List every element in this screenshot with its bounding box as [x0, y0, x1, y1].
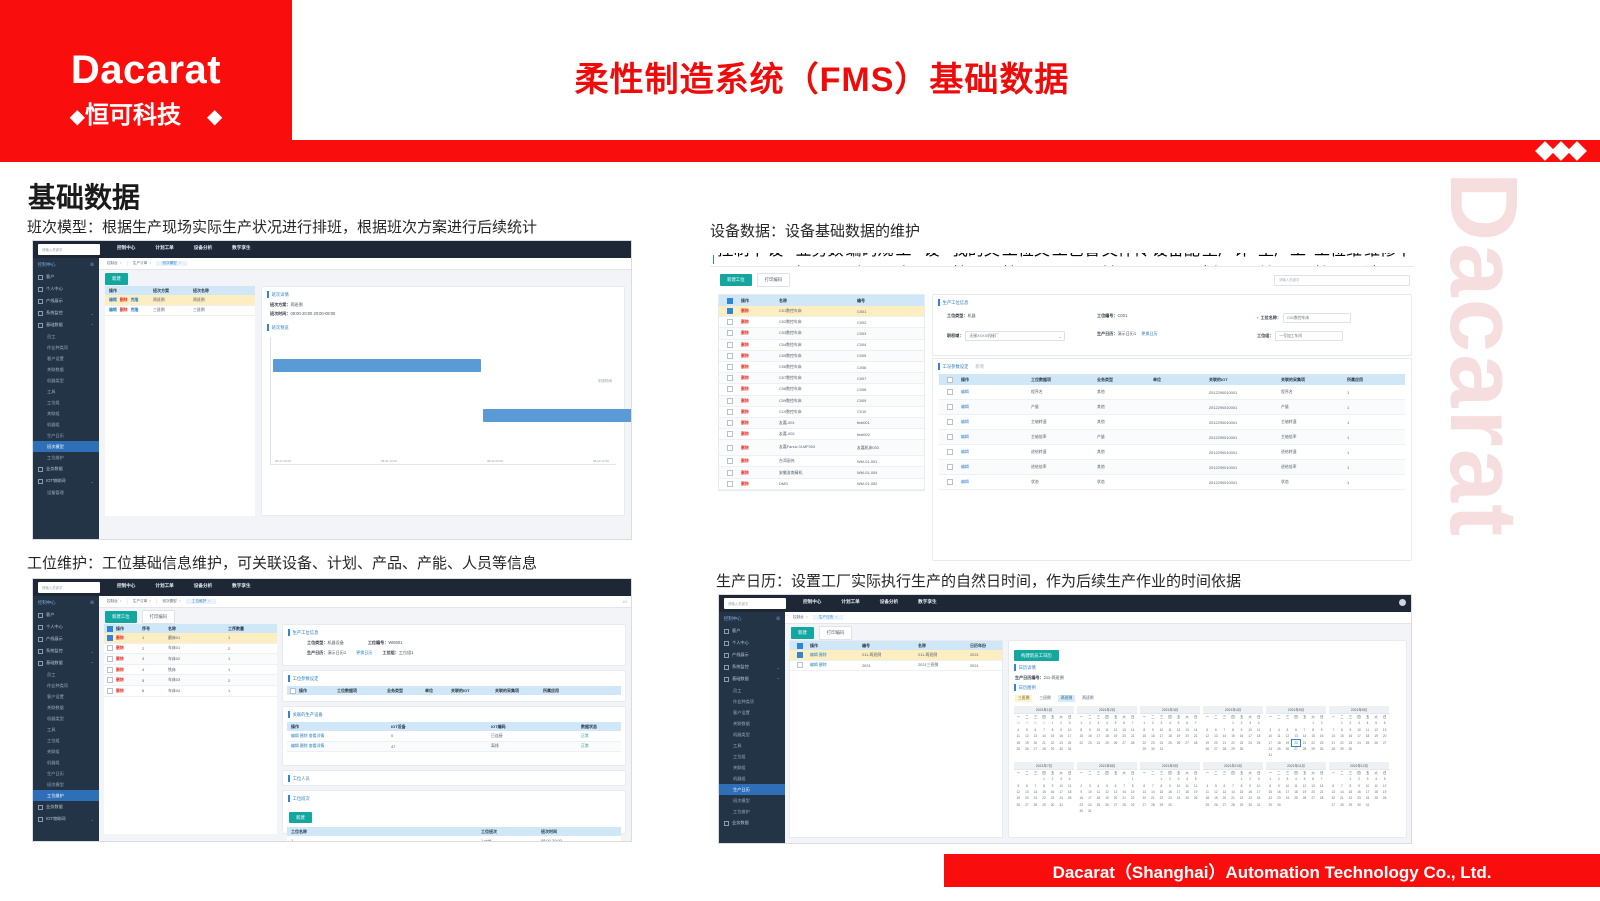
- close-icon[interactable]: ×: [120, 261, 122, 265]
- sidebar-item-shift-model[interactable]: 班次模型: [33, 779, 99, 790]
- sidebar-item-relation-group[interactable]: 关联组: [33, 408, 99, 419]
- topnav-item-1[interactable]: 计划工单: [841, 599, 859, 605]
- topnav-items[interactable]: 控制中心 计划工单 设备分析 数字孪生: [803, 599, 937, 605]
- calendar-day-cell[interactable]: [1380, 802, 1389, 808]
- select-all-checkbox[interactable]: [947, 377, 953, 383]
- delete-link[interactable]: 删除: [741, 375, 779, 381]
- table-row[interactable]: 编辑 产量 其他 2012290010001 产量 1: [939, 400, 1405, 415]
- screenshot-station-maintain[interactable]: 请输入关键字 控制中心 计划工单 设备分析 数字孪生 控制中心☰ 客户 个人中心…: [32, 578, 632, 842]
- calendar-day-cell[interactable]: [1183, 802, 1192, 808]
- row-checkbox[interactable]: [727, 364, 733, 370]
- calendar-day-cell[interactable]: 29: [1140, 746, 1149, 752]
- delete-link[interactable]: 删除: [116, 656, 142, 662]
- close-icon[interactable]: ×: [179, 261, 181, 265]
- sidebar-item-line-display[interactable]: 产线展示: [719, 649, 785, 661]
- sidebar-item-production-calendar[interactable]: 生产日历: [33, 768, 99, 779]
- calendar-day-cell[interactable]: [1191, 802, 1200, 808]
- calendar-day-cell[interactable]: 23: [1086, 740, 1095, 746]
- row-actions[interactable]: 编辑 删除 查看详情: [287, 743, 391, 749]
- calendar-day-cell[interactable]: 22: [1077, 740, 1086, 746]
- delete-link[interactable]: 删除: [120, 307, 128, 313]
- delete-link[interactable]: 删除: [741, 445, 779, 451]
- table-row[interactable]: 编辑 删除 211-两班倒 211-两班倒 2021: [790, 650, 1002, 661]
- topnav-item-2[interactable]: 设备分析: [880, 599, 898, 605]
- calendar-day-cell[interactable]: [1065, 802, 1074, 808]
- print-code-button[interactable]: 打印编码: [142, 610, 176, 624]
- row-checkbox[interactable]: [107, 656, 113, 662]
- new-shift-button[interactable]: 新建: [289, 812, 312, 823]
- calendar-list-table[interactable]: 操作 编号 名称 日历年份 编辑 删除 211-两班倒 211-两班倒 2021…: [789, 640, 1003, 838]
- calendar-day-cell[interactable]: [1094, 808, 1103, 814]
- sidebar-item-device-manage[interactable]: 设备管理: [33, 487, 99, 498]
- close-icon[interactable]: ×: [806, 615, 808, 619]
- calendar-day-cell[interactable]: 30: [1149, 746, 1158, 752]
- screenshot-shift-model[interactable]: 请输入关键字 控制中心 计划工单 设备分析 数字孪生 控制中心☰ 客户 个人中心…: [32, 240, 632, 540]
- sidebar-item-iot[interactable]: IOT物联网⌄: [33, 475, 99, 487]
- tab-device-config[interactable]: 设备配置×: [1152, 253, 1202, 267]
- shift-table[interactable]: 操作 班次方案 班次名称 编辑 删除 克隆 两班倒 两班倒 编辑: [105, 286, 255, 516]
- edit-link[interactable]: 编辑: [961, 389, 1031, 395]
- close-icon[interactable]: ×: [912, 266, 921, 268]
- table-row[interactable]: 删除 DMG WM-01-052: [719, 479, 924, 490]
- delete-link[interactable]: 删除: [741, 481, 779, 487]
- sidebar-item-tool[interactable]: 工具: [33, 724, 99, 735]
- calendar-day-cell[interactable]: [1246, 746, 1255, 752]
- sidebar-item-station-maintain[interactable]: 工位维护: [719, 806, 785, 817]
- table-row[interactable]: 编辑 主轴倍率 产量 2012290010001 主轴倍率 1: [939, 430, 1405, 445]
- table-row[interactable]: 删除 友嘉-001 test001: [719, 418, 924, 429]
- edit-link[interactable]: 编辑: [961, 419, 1031, 425]
- calendar-day-cell[interactable]: 30: [1237, 746, 1246, 752]
- calendar-day-cell[interactable]: [1103, 808, 1112, 814]
- calendar-day-cell[interactable]: 31: [1266, 752, 1275, 758]
- screenshot-device-data[interactable]: 控制中心× 设置× 业务数据× 编码规则× 工序× 设置× 我的文档× 工位文档…: [710, 253, 1414, 563]
- tab-code-rule[interactable]: 编码规则×: [846, 253, 896, 267]
- sidebar-item-basic-data[interactable]: 基础数据⌃: [33, 657, 99, 669]
- sidebar-item-monitor[interactable]: 系统监控⌄: [33, 307, 99, 319]
- row-checkbox[interactable]: [727, 386, 733, 392]
- close-icon[interactable]: ×: [149, 599, 151, 603]
- table-row[interactable]: 删除 C10数控车床 C010: [719, 407, 924, 418]
- delete-link[interactable]: 删除: [741, 398, 779, 404]
- edit-link[interactable]: 编辑: [961, 404, 1031, 410]
- sidebar-item-customer[interactable]: 客户: [33, 271, 99, 283]
- row-checkbox[interactable]: [797, 662, 803, 668]
- calendar-day-cell[interactable]: 30: [1048, 802, 1057, 808]
- tab-file-transfer[interactable]: 文件传输×: [1102, 253, 1152, 267]
- row-checkbox[interactable]: [107, 688, 113, 694]
- sidebar-item-iot[interactable]: IOT物联网⌄: [33, 813, 99, 825]
- sidebar-item-business-data[interactable]: 业务数据: [33, 463, 99, 475]
- topnav-item-1[interactable]: 计划工单: [155, 583, 173, 589]
- calendar-day-cell[interactable]: 24: [1094, 740, 1103, 746]
- row-checkbox[interactable]: [727, 398, 733, 404]
- calendar-day-cell[interactable]: [1111, 808, 1120, 814]
- calendar-day-cell[interactable]: [1183, 746, 1192, 752]
- sidebar-item-line-display[interactable]: 产线展示: [33, 295, 99, 307]
- sidebar-item-customer-setting[interactable]: 客户设置: [33, 691, 99, 702]
- build-new-calendar-button[interactable]: 构建新员工日历: [1014, 650, 1059, 661]
- delete-link[interactable]: 删除: [116, 667, 142, 673]
- print-code-button[interactable]: 打印编码: [819, 626, 853, 640]
- print-code-button[interactable]: 打印编码: [757, 273, 791, 287]
- sidebar-item-work-type[interactable]: 作业种类项: [33, 680, 99, 691]
- row-checkbox[interactable]: [727, 481, 733, 487]
- avatar[interactable]: [1399, 599, 1406, 606]
- sidebar-item-line-display[interactable]: 产线展示: [33, 633, 99, 645]
- close-icon[interactable]: ×: [1168, 266, 1177, 268]
- sidebar-item-monitor[interactable]: 系统监控⌄: [719, 661, 785, 673]
- sidebar-item-station-group[interactable]: 工位组: [33, 735, 99, 746]
- topnav-item-3[interactable]: 数字孪生: [918, 599, 936, 605]
- app-sidebar[interactable]: 控制中心☰ 客户 个人中心 产线展示 系统监控⌄ 基础数据⌃ 员工 作业种类项 …: [33, 258, 99, 539]
- delete-link[interactable]: 删除: [741, 308, 779, 314]
- collapse-icon[interactable]: ☰: [776, 616, 780, 622]
- calendar-day-cell[interactable]: 28: [1329, 746, 1338, 752]
- topnav-items[interactable]: 控制中心 计划工单 设备分析 数字孪生: [117, 245, 251, 251]
- table-row[interactable]: 编辑 主轴转速 其他 2012290010001 主轴转速 1: [939, 415, 1405, 430]
- topnav-item-1[interactable]: 计划工单: [155, 245, 173, 251]
- tab-setting-2[interactable]: 设置×: [924, 253, 952, 267]
- topnav-item-2[interactable]: 设备分析: [194, 245, 212, 251]
- calendar-day-cell[interactable]: 25: [1103, 740, 1112, 746]
- close-icon[interactable]: ×: [1227, 266, 1236, 268]
- table-row[interactable]: 编辑 删除 克隆 两班倒 两班倒: [105, 295, 255, 306]
- row-checkbox[interactable]: [107, 635, 113, 641]
- topnav-items[interactable]: 控制中心 计划工单 设备分析 数字孪生: [117, 583, 251, 589]
- calendar-day-cell[interactable]: 28: [1220, 746, 1229, 752]
- tab-repair-request[interactable]: 维修申请×: [1364, 253, 1414, 267]
- edit-link[interactable]: 编辑: [109, 307, 117, 313]
- sidebar-item-basic-data[interactable]: 基础数据⌃: [33, 319, 99, 331]
- calendar-day-cell[interactable]: 31: [1057, 802, 1066, 808]
- sidebar-item-work-type[interactable]: 作业种类项: [33, 342, 99, 353]
- sidebar-item-customer-setting[interactable]: 客户设置: [719, 707, 785, 718]
- table-row[interactable]: 删除 友嘉-002 test002: [719, 429, 924, 440]
- calendar-day-cell[interactable]: 27: [1220, 802, 1229, 808]
- calendar-day-cell[interactable]: 29: [1157, 802, 1166, 808]
- calendar-day-cell[interactable]: 29: [1266, 802, 1275, 808]
- delete-link[interactable]: 删除: [116, 645, 142, 651]
- tab-production-order[interactable]: 生产订单×: [128, 599, 157, 604]
- calendar-day-cell[interactable]: 25: [1203, 802, 1212, 808]
- calendar-day-cell[interactable]: 31: [1086, 808, 1095, 814]
- calendar-day-cell[interactable]: [1355, 746, 1364, 752]
- calendar-day-cell[interactable]: 28: [1338, 802, 1347, 808]
- row-checkbox[interactable]: [727, 319, 733, 325]
- sidebar-item-employee[interactable]: 员工: [33, 669, 99, 680]
- close-icon[interactable]: ×: [1068, 266, 1077, 268]
- table-row[interactable]: 编辑 删除 克隆 三班倒 三班倒: [105, 306, 255, 317]
- calendar-day-cell[interactable]: [1300, 752, 1309, 758]
- calendar-day-cell[interactable]: 29: [1229, 746, 1238, 752]
- tab-console[interactable]: 控制台×: [102, 261, 128, 266]
- row-checkbox[interactable]: [727, 458, 733, 464]
- calendar-day-cell[interactable]: 27: [1031, 746, 1040, 752]
- authority-domain-select[interactable]: 无锡XXXX机械厂⌄: [965, 331, 1065, 341]
- new-station-button[interactable]: 新建工位: [105, 611, 137, 623]
- row-checkbox[interactable]: [727, 470, 733, 476]
- table-row[interactable]: 编辑 程序名 其他 2012290010001 程序名 1: [939, 385, 1405, 400]
- screenshot-production-calendar[interactable]: 请输入关键字 控制中心 计划工单 设备分析 数字孪生 控制中心☰ 客户 个人中心…: [718, 594, 1412, 844]
- table-row[interactable]: 1 1 shift 08:00-20:00: [287, 836, 621, 842]
- row-checkbox[interactable]: [107, 667, 113, 673]
- calendar-day-cell[interactable]: [1174, 802, 1183, 808]
- calendar-day-cell[interactable]: 31: [1363, 802, 1372, 808]
- table-row[interactable]: 删除 5 车床03 2: [104, 675, 277, 686]
- sidebar-item-machine-type[interactable]: 机器类型: [33, 375, 99, 386]
- close-icon[interactable]: ×: [862, 266, 871, 268]
- table-row[interactable]: 删除 6 车床04 1: [104, 686, 277, 697]
- tab-business-data[interactable]: 业务数据×: [796, 253, 846, 267]
- calendar-day-cell[interactable]: 31: [1254, 802, 1263, 808]
- table-row[interactable]: 编辑 状态 状态 2012290010001 状态 1: [939, 475, 1405, 490]
- row-checkbox[interactable]: [727, 330, 733, 336]
- tab-bar[interactable]: 控制台× 生产订单× 班次模型× 工位维护× 1/3: [99, 596, 631, 608]
- table-row[interactable]: 删除 1 磨床01 1: [104, 633, 277, 644]
- sidebar-item-station-group[interactable]: 工位组: [719, 751, 785, 762]
- calendar-day-cell[interactable]: 30: [1275, 802, 1284, 808]
- sidebar-item-personal[interactable]: 个人中心: [33, 283, 99, 295]
- edit-link[interactable]: 编辑: [961, 449, 1031, 455]
- table-row[interactable]: 删除 C09数控车床 C009: [719, 396, 924, 407]
- tab-station-doc[interactable]: 工位文档×: [1002, 253, 1052, 267]
- calendar-day-cell[interactable]: 29: [1338, 746, 1347, 752]
- tab-bar[interactable]: 控制台× 生产日历×: [785, 612, 1411, 624]
- edit-link[interactable]: 编辑: [961, 479, 1031, 485]
- device-list-table[interactable]: 操作 名称 编号 删除 C01数控车床 C001 删除 C02数控车床 C002…: [718, 294, 925, 491]
- calendar-day-cell[interactable]: 29: [1346, 802, 1355, 808]
- tab-process[interactable]: 工序×: [896, 253, 924, 267]
- table-row[interactable]: 删除 台湾丽伟 WM-01-001: [719, 456, 924, 467]
- row-checkbox[interactable]: [727, 342, 733, 348]
- row-checkbox[interactable]: [727, 375, 733, 381]
- sidebar-item-customer[interactable]: 客户: [33, 609, 99, 621]
- calendar-day-cell[interactable]: 27: [1023, 802, 1032, 808]
- table-row[interactable]: 删除 安徽淮南精机 WM-01-004: [719, 467, 924, 478]
- close-icon[interactable]: ×: [835, 615, 837, 619]
- close-icon[interactable]: ×: [120, 599, 122, 603]
- change-calendar-link[interactable]: 更换日历: [1141, 331, 1157, 336]
- sidebar-item-relation-group[interactable]: 关联组: [33, 746, 99, 757]
- app-sidebar[interactable]: 控制中心☰ 客户 个人中心 产线展示 系统监控⌄ 基础数据⌃ 员工 作业种类项 …: [719, 612, 785, 843]
- row-checkbox[interactable]: [727, 409, 733, 415]
- tab-production-plan[interactable]: 生产计划1×: [1202, 253, 1258, 267]
- calendar-day-cell[interactable]: [1292, 802, 1301, 808]
- sidebar-item-machine-type[interactable]: 机器类型: [33, 713, 99, 724]
- row-checkbox[interactable]: [947, 479, 953, 485]
- edit-link[interactable]: 编辑: [109, 297, 117, 303]
- calendar-day-cell[interactable]: 30: [1346, 746, 1355, 752]
- delete-link[interactable]: 删除: [116, 635, 142, 641]
- station-name-input[interactable]: C01数控车床: [1283, 313, 1351, 323]
- calendar-day-cell[interactable]: [1166, 746, 1175, 752]
- collapse-icon[interactable]: ☰: [90, 262, 94, 268]
- clone-link[interactable]: 克隆: [131, 297, 139, 303]
- close-icon[interactable]: ×: [1018, 266, 1027, 268]
- row-actions[interactable]: 编辑 删除: [810, 662, 862, 668]
- row-checkbox[interactable]: [947, 464, 953, 470]
- select-all-checkbox[interactable]: [797, 643, 803, 649]
- sidebar-item-station-maintain[interactable]: 工位维护: [33, 452, 99, 463]
- sidebar-item-personal[interactable]: 个人中心: [719, 637, 785, 649]
- table-row[interactable]: 编辑 删除 2021 2021三班倒 2021: [790, 661, 1002, 672]
- sidebar-item-business-data[interactable]: 业务数据: [719, 817, 785, 829]
- sidebar-item-employee[interactable]: 员工: [33, 331, 99, 342]
- toolbar[interactable]: 新建 打印编码: [785, 624, 1411, 640]
- tab-craft-manage[interactable]: 工艺管理×: [1052, 253, 1102, 267]
- new-button[interactable]: 新建: [791, 627, 814, 639]
- sidebar-item-shift-model[interactable]: 班次模型: [719, 795, 785, 806]
- calendar-day-cell[interactable]: [1372, 802, 1381, 808]
- table-row[interactable]: 删除 C04数控车床 C004: [719, 340, 924, 351]
- delete-link[interactable]: 删除: [741, 409, 779, 415]
- row-checkbox[interactable]: [727, 420, 733, 426]
- delete-link[interactable]: 删除: [116, 688, 142, 694]
- calendar-day-cell[interactable]: 30: [1355, 802, 1364, 808]
- calendar-day-cell[interactable]: [1254, 746, 1263, 752]
- sidebar-item-tool[interactable]: 工具: [719, 740, 785, 751]
- delete-link[interactable]: 删除: [116, 677, 142, 683]
- close-icon[interactable]: ×: [149, 261, 151, 265]
- tab-bar[interactable]: 控制台× 生产订单× 班次模型×: [99, 258, 631, 270]
- calendar-day-cell[interactable]: 30: [1077, 808, 1086, 814]
- row-actions[interactable]: 编辑 删除 查看详情: [287, 733, 391, 739]
- tab-production-order[interactable]: 生产订单×: [128, 261, 157, 266]
- tab-shift-model[interactable]: 班次模型×: [157, 599, 186, 604]
- sidebar-item-monitor[interactable]: 系统监控⌄: [33, 645, 99, 657]
- tab-bar[interactable]: 控制中心× 设置× 业务数据× 编码规则× 工序× 设置× 我的文档× 工位文档…: [710, 253, 1414, 267]
- delete-link[interactable]: 删除: [120, 297, 128, 303]
- calendar-day-cell[interactable]: 31: [1065, 746, 1074, 752]
- sidebar-item-station-group[interactable]: 工位组: [33, 397, 99, 408]
- table-row[interactable]: 删除 2 车床01 2: [104, 644, 277, 655]
- new-station-button[interactable]: 新建工位: [720, 274, 752, 286]
- tab-shift-model[interactable]: 班次模型×: [157, 261, 186, 266]
- tab-production-order[interactable]: 生产工单1×: [1258, 253, 1314, 267]
- delete-link[interactable]: 删除: [741, 342, 779, 348]
- table-row[interactable]: 删除 3 车床02 1: [104, 654, 277, 665]
- add-param-link[interactable]: 新增: [975, 364, 984, 370]
- row-checkbox[interactable]: [107, 677, 113, 683]
- clone-link[interactable]: 克隆: [131, 307, 139, 313]
- search-input[interactable]: 请输入关键字: [724, 598, 786, 609]
- row-checkbox[interactable]: [797, 652, 803, 658]
- toolbar[interactable]: 新建工位 打印编码: [714, 271, 790, 287]
- tab-production-calendar[interactable]: 生产日历×: [814, 615, 843, 620]
- calendar-day-cell[interactable]: 30: [1246, 802, 1255, 808]
- close-icon[interactable]: ×: [968, 266, 977, 268]
- close-icon[interactable]: ×: [733, 266, 742, 268]
- sidebar-item-employee[interactable]: 员工: [719, 685, 785, 696]
- topnav-item-3[interactable]: 数字孪生: [232, 245, 250, 251]
- delete-link[interactable]: 删除: [741, 364, 779, 370]
- tab-my-doc[interactable]: 我的文档×: [952, 253, 1002, 267]
- tab-station-maintain[interactable]: 工位维护×: [187, 599, 216, 604]
- delete-link[interactable]: 删除: [741, 319, 779, 325]
- select-all-checkbox[interactable]: [727, 298, 733, 304]
- calendar-day-cell[interactable]: [1128, 808, 1137, 814]
- close-icon[interactable]: ×: [783, 266, 792, 268]
- row-checkbox[interactable]: [947, 434, 953, 440]
- topnav-item-3[interactable]: 数字孪生: [232, 583, 250, 589]
- station-table[interactable]: 操作 序号 名称 工序数量 删除 1 磨床01 1 删除 2 车床01: [104, 624, 277, 834]
- calendar-day-cell[interactable]: 29: [1048, 746, 1057, 752]
- sidebar-item-relation-group[interactable]: 关联组: [719, 762, 785, 773]
- tab-console[interactable]: 控制台×: [102, 599, 128, 604]
- calendar-day-cell[interactable]: 26: [1111, 740, 1120, 746]
- sidebar-item-business-data[interactable]: 业务数据: [33, 801, 99, 813]
- calendar-day-cell[interactable]: 29: [1040, 802, 1049, 808]
- table-row[interactable]: 编辑 删除 查看详情 0 已连接 正常: [287, 731, 621, 742]
- tab-station-maintain[interactable]: 工位维护×: [1314, 253, 1364, 267]
- table-row[interactable]: 删除 C06数控车床 C006: [719, 362, 924, 373]
- tab-console[interactable]: 控制台×: [788, 615, 814, 620]
- sidebar-item-customer[interactable]: 客户: [719, 625, 785, 637]
- delete-link[interactable]: 删除: [741, 470, 779, 476]
- sidebar-item-machine-group[interactable]: 机器组: [719, 773, 785, 784]
- calendar-day-cell[interactable]: [1292, 752, 1301, 758]
- calendar-day-cell[interactable]: 31: [1157, 746, 1166, 752]
- sidebar-item-machine-group[interactable]: 机器组: [33, 419, 99, 430]
- table-row[interactable]: 删除 C05数控车床 C005: [719, 351, 924, 362]
- row-checkbox[interactable]: [727, 431, 733, 437]
- row-checkbox[interactable]: [727, 445, 733, 451]
- calendar-day-cell[interactable]: 26: [1203, 746, 1212, 752]
- table-row[interactable]: 删除 4 铣床 1: [104, 665, 277, 676]
- calendar-day-cell[interactable]: 30: [1057, 746, 1066, 752]
- calendar-day-cell[interactable]: 27: [1120, 740, 1129, 746]
- sidebar-item-production-calendar[interactable]: 生产日历: [33, 430, 99, 441]
- topnav-item-0[interactable]: 控制中心: [117, 245, 135, 251]
- delete-link[interactable]: 删除: [741, 458, 779, 464]
- calendar-day-cell[interactable]: 28: [1229, 802, 1238, 808]
- toolbar[interactable]: 新建: [99, 270, 631, 286]
- calendar-day-cell[interactable]: [1275, 752, 1284, 758]
- app-sidebar[interactable]: 控制中心☰ 客户 个人中心 产线展示 系统监控⌄ 基础数据⌃ 员工 作业种类项 …: [33, 596, 99, 841]
- calendar-day-cell[interactable]: [1191, 746, 1200, 752]
- calendar-day-cell[interactable]: [1380, 746, 1389, 752]
- close-icon[interactable]: ×: [940, 266, 949, 268]
- calendar-day-cell[interactable]: 27: [1329, 802, 1338, 808]
- calendar-day-cell[interactable]: 27: [1212, 746, 1221, 752]
- table-row[interactable]: 删除 C07数控车床 C007: [719, 373, 924, 384]
- calendar-day-cell[interactable]: [1283, 752, 1292, 758]
- sidebar-item-production-calendar[interactable]: 生产日历: [719, 784, 785, 795]
- close-icon[interactable]: ×: [812, 266, 821, 268]
- tab-control-center[interactable]: 控制中心×: [717, 253, 767, 267]
- toolbar[interactable]: 新建工位 打印编码: [99, 608, 631, 624]
- table-row[interactable]: 编辑 进给转速 其他 2012290010001 进给转速 1: [939, 445, 1405, 460]
- calendar-day-cell[interactable]: [1174, 746, 1183, 752]
- calendar-day-cell[interactable]: 26: [1212, 802, 1221, 808]
- select-all-checkbox[interactable]: [107, 626, 113, 632]
- table-row[interactable]: 删除 C03数控车床 C003: [719, 328, 924, 339]
- table-row[interactable]: 编辑 进给倍率 其他 2012290010001 进给倍率 1: [939, 460, 1405, 475]
- calendar-day-cell[interactable]: 29: [1237, 802, 1246, 808]
- calendar-day-cell[interactable]: 28: [1040, 746, 1049, 752]
- calendar-day-cell[interactable]: 27: [1140, 802, 1149, 808]
- edit-link[interactable]: 编辑: [961, 434, 1031, 440]
- table-row[interactable]: 删除 C01数控车床 C001: [719, 306, 924, 317]
- close-icon[interactable]: ×: [1330, 266, 1339, 268]
- delete-link[interactable]: 删除: [741, 386, 779, 392]
- row-checkbox[interactable]: [727, 308, 733, 314]
- sidebar-item-relation-data[interactable]: 关联数据: [719, 718, 785, 729]
- table-row[interactable]: 删除 C02数控车床 C002: [719, 317, 924, 328]
- topnav-item-0[interactable]: 控制中心: [803, 599, 821, 605]
- row-actions[interactable]: 编辑 删除: [810, 652, 862, 658]
